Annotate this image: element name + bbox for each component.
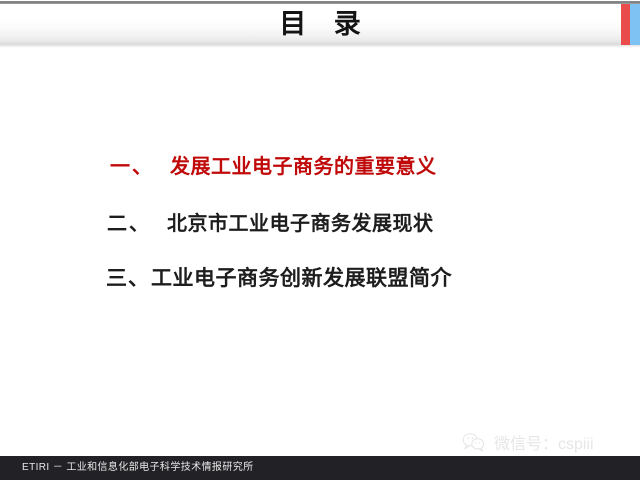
header-bottom-shadow xyxy=(0,44,640,48)
watermark-text: 微信号：cspiii xyxy=(494,430,594,454)
toc-item-2[interactable]: 二、北京市工业电子商务发展现状 xyxy=(0,207,640,236)
toc-item-1[interactable]: 一、发展工业电子商务的重要意义 xyxy=(0,150,640,179)
presentation-slide: 目 录 一、发展工业电子商务的重要意义 二、北京市工业电子商务发展现状 三、工业… xyxy=(0,0,640,480)
footer-label: ETIRI － 工业和信息化部电子科学技术情报研究所 xyxy=(22,456,254,480)
header-accent-blue-bar xyxy=(630,4,640,45)
toc-item-1-label: 发展工业电子商务的重要意义 xyxy=(170,156,437,178)
toc-item-2-number: 二、 xyxy=(107,213,151,235)
table-of-contents: 一、发展工业电子商务的重要意义 二、北京市工业电子商务发展现状 三、工业电子商务… xyxy=(0,150,640,292)
watermark: 微信号：cspiii xyxy=(462,430,594,454)
toc-item-3[interactable]: 三、工业电子商务创新发展联盟简介 xyxy=(0,262,640,292)
toc-item-2-label: 北京市工业电子商务发展现状 xyxy=(167,213,434,235)
toc-item-3-number: 三、 xyxy=(106,267,150,290)
header-accent-red-bar xyxy=(621,4,630,45)
toc-item-1-number: 一、 xyxy=(110,156,154,178)
page-title: 目 录 xyxy=(0,5,640,43)
wechat-icon xyxy=(462,432,486,452)
toc-item-3-label: 工业电子商务创新发展联盟简介 xyxy=(151,267,452,290)
